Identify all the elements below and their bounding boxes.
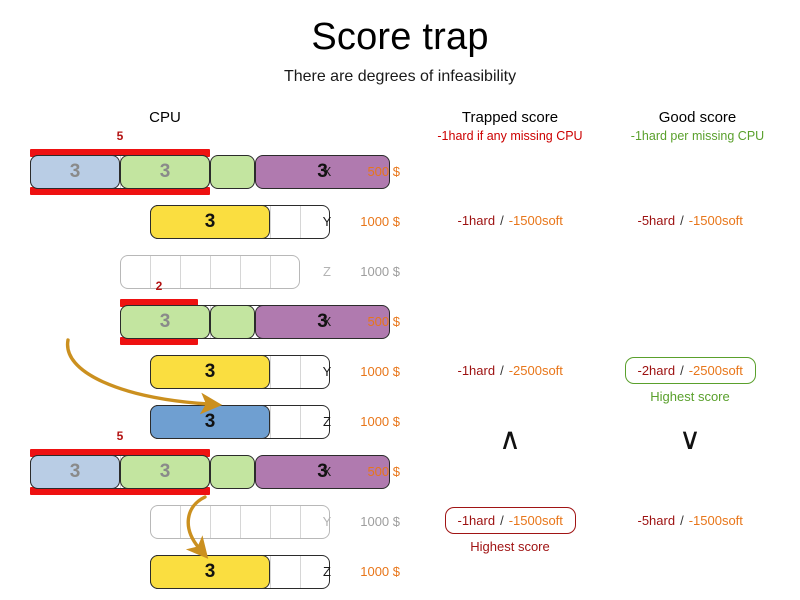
good-hard-score: -2hard — [638, 363, 676, 378]
capacity-label: 5 — [100, 129, 140, 143]
good-soft-score: -1500soft — [689, 213, 743, 228]
trapped-score-separator: / — [495, 213, 509, 228]
trapped-soft-score: -2500soft — [509, 363, 563, 378]
cpu-cell — [241, 506, 271, 538]
column-header-trapped-score: Trapped score -1hard if any missing CPU — [400, 109, 620, 143]
cpu-cell — [271, 556, 301, 588]
good-score-separator: / — [675, 513, 689, 528]
trapped-score-cell: -1hard/-1500soft — [458, 213, 563, 228]
cpu-cell — [151, 506, 181, 538]
cpu-cell — [211, 506, 241, 538]
process-block[interactable]: 3 — [150, 355, 270, 389]
process-block[interactable]: 3 — [150, 405, 270, 439]
good-score-cell: -2hard/-2500soft — [625, 357, 756, 384]
trapped-hard-score: -1hard — [458, 213, 496, 228]
process-block[interactable]: 3 — [120, 305, 210, 339]
cpu-cell — [181, 256, 211, 288]
machine-label: Z — [318, 264, 336, 279]
machine-cost: 1000 $ — [338, 514, 400, 529]
good-score-cell: -5hard/-1500soft — [638, 513, 743, 528]
cpu-cell — [271, 206, 301, 238]
machine-label: Z — [318, 564, 336, 579]
machine-cost: 500 $ — [338, 464, 400, 479]
cpu-cell — [241, 256, 271, 288]
process-block[interactable]: 3 — [150, 205, 270, 239]
comparator-trapped-icon: ∧ — [485, 425, 535, 455]
good-highest-score-label: Highest score — [620, 389, 760, 404]
trapped-hard-score: -1hard — [458, 363, 496, 378]
trapped-soft-score: -1500soft — [509, 513, 563, 528]
cpu-cell — [211, 256, 241, 288]
trapped-soft-score: -1500soft — [509, 213, 563, 228]
good-hard-score: -5hard — [638, 213, 676, 228]
machine-cost: 500 $ — [338, 314, 400, 329]
cpu-header-label: CPU — [105, 109, 225, 126]
good-score-rule: -1hard per missing CPU — [600, 129, 795, 143]
machine-cost: 1000 $ — [338, 564, 400, 579]
cpu-cell — [181, 506, 211, 538]
process-block[interactable]: 3 — [150, 555, 270, 589]
trapped-score-rule: -1hard if any missing CPU — [400, 129, 620, 143]
process-block[interactable]: 3 — [120, 155, 210, 189]
capacity-label: 2 — [139, 279, 179, 293]
machine-cost: 1000 $ — [338, 214, 400, 229]
machine-label: X — [318, 314, 336, 329]
machine-label: Y — [318, 514, 336, 529]
good-score-cell: -5hard/-1500soft — [638, 213, 743, 228]
cpu-track — [150, 505, 330, 539]
machine-label: Y — [318, 214, 336, 229]
trapped-score-separator: / — [495, 513, 509, 528]
trapped-hard-score: -1hard — [458, 513, 496, 528]
machine-label: Y — [318, 364, 336, 379]
process-block[interactable] — [210, 155, 255, 189]
good-score-separator: / — [675, 213, 689, 228]
machine-cost: 1000 $ — [338, 264, 400, 279]
good-hard-score: -5hard — [638, 513, 676, 528]
trapped-score-cell: -1hard/-1500soft — [445, 507, 576, 534]
machine-label: X — [318, 164, 336, 179]
slide-canvas: Score trap There are degrees of infeasib… — [0, 0, 800, 600]
process-block[interactable] — [210, 305, 255, 339]
cpu-cell — [271, 406, 301, 438]
cpu-cell — [271, 256, 300, 288]
machine-label: Z — [318, 414, 336, 429]
process-block[interactable]: 3 — [120, 455, 210, 489]
cpu-cell — [271, 356, 301, 388]
process-block[interactable] — [210, 455, 255, 489]
trapped-score-cell: -1hard/-2500soft — [458, 363, 563, 378]
machine-label: X — [318, 464, 336, 479]
page-title: Score trap — [0, 16, 800, 59]
page-subtitle: There are degrees of infeasibility — [0, 68, 800, 86]
process-block[interactable]: 3 — [30, 455, 120, 489]
column-header-good-score: Good score -1hard per missing CPU — [600, 109, 795, 143]
good-score-separator: / — [675, 363, 689, 378]
machine-cost: 1000 $ — [338, 414, 400, 429]
machine-cost: 1000 $ — [338, 364, 400, 379]
comparator-good-icon: ∨ — [665, 425, 715, 455]
good-soft-score: -1500soft — [689, 513, 743, 528]
trapped-score-separator: / — [495, 363, 509, 378]
good-soft-score: -2500soft — [689, 363, 743, 378]
trapped-highest-score-label: Highest score — [440, 539, 580, 554]
column-header-cpu: CPU — [105, 109, 225, 126]
trapped-score-title: Trapped score — [400, 109, 620, 126]
process-block[interactable]: 3 — [30, 155, 120, 189]
cpu-cell — [271, 506, 301, 538]
good-score-title: Good score — [600, 109, 795, 126]
machine-cost: 500 $ — [338, 164, 400, 179]
capacity-label: 5 — [100, 429, 140, 443]
